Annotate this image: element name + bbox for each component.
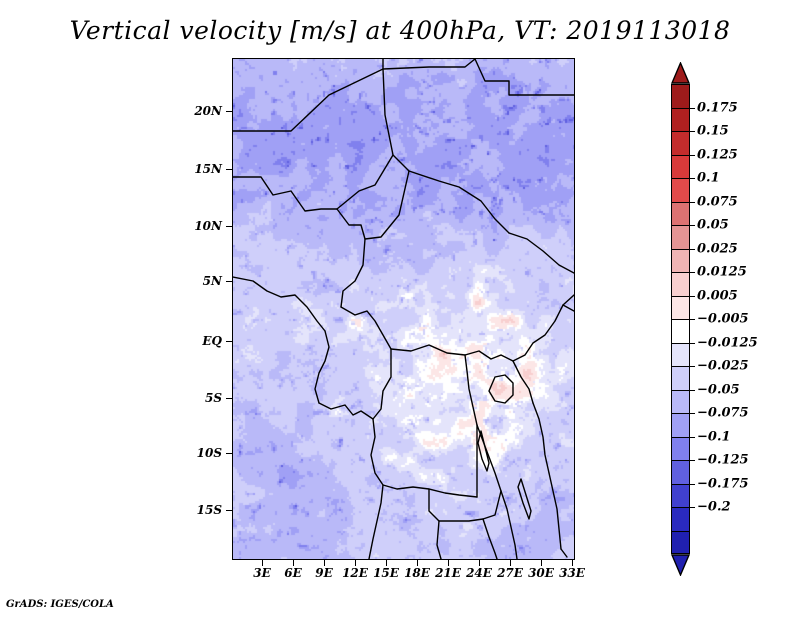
colorbar-arrow-down-icon (671, 554, 690, 576)
colorbar-tick-0 (690, 108, 695, 109)
colorbar-label-7: 0.0125 (697, 265, 747, 280)
x-axis-label-9E: 9E (315, 566, 333, 580)
colorbar-swatch-5 (671, 202, 690, 226)
colorbar-label-9: −0.005 (697, 312, 749, 327)
colorbar-swatch-0 (671, 84, 690, 108)
colorbar-tick-7 (690, 272, 695, 273)
colorbar-label-0: 0.175 (697, 100, 738, 115)
y-axis-label-10S: 10S (176, 446, 222, 460)
colorbar-swatch-4 (671, 178, 690, 202)
page-title: Vertical velocity [m/s] at 400hPa, VT: 2… (0, 16, 800, 45)
colorbar-label-6: 0.025 (697, 241, 738, 256)
colorbar-swatch-3 (671, 155, 690, 179)
colorbar-legend: 0.1750.150.1250.10.0750.050.0250.01250.0… (671, 62, 791, 562)
colorbar-arrow-up-icon (671, 62, 690, 84)
colorbar-tick-9 (690, 319, 695, 320)
y-axis-label-20N: 20N (176, 104, 222, 118)
colorbar-swatch-17 (671, 484, 690, 508)
x-axis-label-27E: 27E (497, 566, 523, 580)
x-axis-label-30E: 30E (528, 566, 554, 580)
colorbar-swatch-6 (671, 225, 690, 249)
colorbar-swatch-18 (671, 507, 690, 531)
colorbar-label-14: −0.1 (697, 429, 731, 444)
colorbar-tick-1 (690, 131, 695, 132)
colorbar-swatch-19 (671, 531, 690, 555)
colorbar-label-12: −0.05 (697, 382, 740, 397)
colorbar-tick-12 (690, 390, 695, 391)
colorbar-label-2: 0.125 (697, 147, 738, 162)
colorbar-label-16: −0.175 (697, 476, 749, 491)
x-axis-label-15E: 15E (373, 566, 399, 580)
colorbar-tick-10 (690, 343, 695, 344)
colorbar-swatch-15 (671, 437, 690, 461)
map-plot-area (232, 58, 575, 560)
colorbar-label-8: 0.005 (697, 288, 738, 303)
y-axis-label-10N: 10N (176, 219, 222, 233)
colorbar-label-10: −0.0125 (697, 335, 758, 350)
colorbar-tick-17 (690, 507, 695, 508)
y-tick-10N (226, 226, 232, 227)
y-axis-label-5S: 5S (176, 391, 222, 405)
y-tick-5N (226, 281, 232, 282)
colorbar-label-1: 0.15 (697, 124, 729, 139)
colorbar-tick-8 (690, 296, 695, 297)
colorbar-tick-6 (690, 249, 695, 250)
y-axis-label-EQ: EQ (176, 334, 222, 348)
colorbar-swatch-9 (671, 296, 690, 320)
colorbar-label-15: −0.125 (697, 453, 749, 468)
x-axis-label-24E: 24E (466, 566, 492, 580)
colorbar-swatch-7 (671, 249, 690, 273)
y-tick-EQ (226, 341, 232, 342)
y-tick-10S (226, 453, 232, 454)
colorbar-swatch-2 (671, 131, 690, 155)
x-axis-label-21E: 21E (435, 566, 461, 580)
y-tick-5S (226, 398, 232, 399)
y-tick-20N (226, 111, 232, 112)
y-tick-15S (226, 510, 232, 511)
colorbar-swatch-14 (671, 413, 690, 437)
y-axis-label-15S: 15S (176, 503, 222, 517)
colorbar-tick-4 (690, 202, 695, 203)
y-axis-label-15N: 15N (176, 162, 222, 176)
colorbar-label-4: 0.075 (697, 194, 738, 209)
colorbar-tick-14 (690, 437, 695, 438)
x-axis-label-3E: 3E (253, 566, 271, 580)
colorbar-swatch-8 (671, 272, 690, 296)
colorbar-tick-16 (690, 484, 695, 485)
colorbar-tick-2 (690, 155, 695, 156)
colorbar-tick-13 (690, 413, 695, 414)
y-axis-label-5N: 5N (176, 274, 222, 288)
colorbar-tick-3 (690, 178, 695, 179)
y-tick-15N (226, 169, 232, 170)
colorbar-label-5: 0.05 (697, 218, 729, 233)
colorbar-swatch-11 (671, 343, 690, 367)
grads-credit: GrADS: IGES/COLA (6, 599, 114, 610)
x-axis-label-18E: 18E (404, 566, 430, 580)
x-axis-label-33E: 33E (559, 566, 585, 580)
colorbar-swatch-16 (671, 460, 690, 484)
colorbar-swatch-10 (671, 319, 690, 343)
colorbar-tick-15 (690, 460, 695, 461)
colorbar-swatch-13 (671, 390, 690, 414)
colorbar-label-11: −0.025 (697, 359, 749, 374)
colorbar-label-17: −0.2 (697, 500, 731, 515)
x-axis-label-6E: 6E (284, 566, 302, 580)
colorbar-swatch-1 (671, 108, 690, 132)
colorbar-swatch-12 (671, 366, 690, 390)
colorbar-tick-11 (690, 366, 695, 367)
colorbar-tick-5 (690, 225, 695, 226)
x-axis-label-12E: 12E (342, 566, 368, 580)
country-borders-overlay (233, 59, 574, 559)
colorbar-label-3: 0.1 (697, 171, 720, 186)
colorbar-label-13: −0.075 (697, 406, 749, 421)
